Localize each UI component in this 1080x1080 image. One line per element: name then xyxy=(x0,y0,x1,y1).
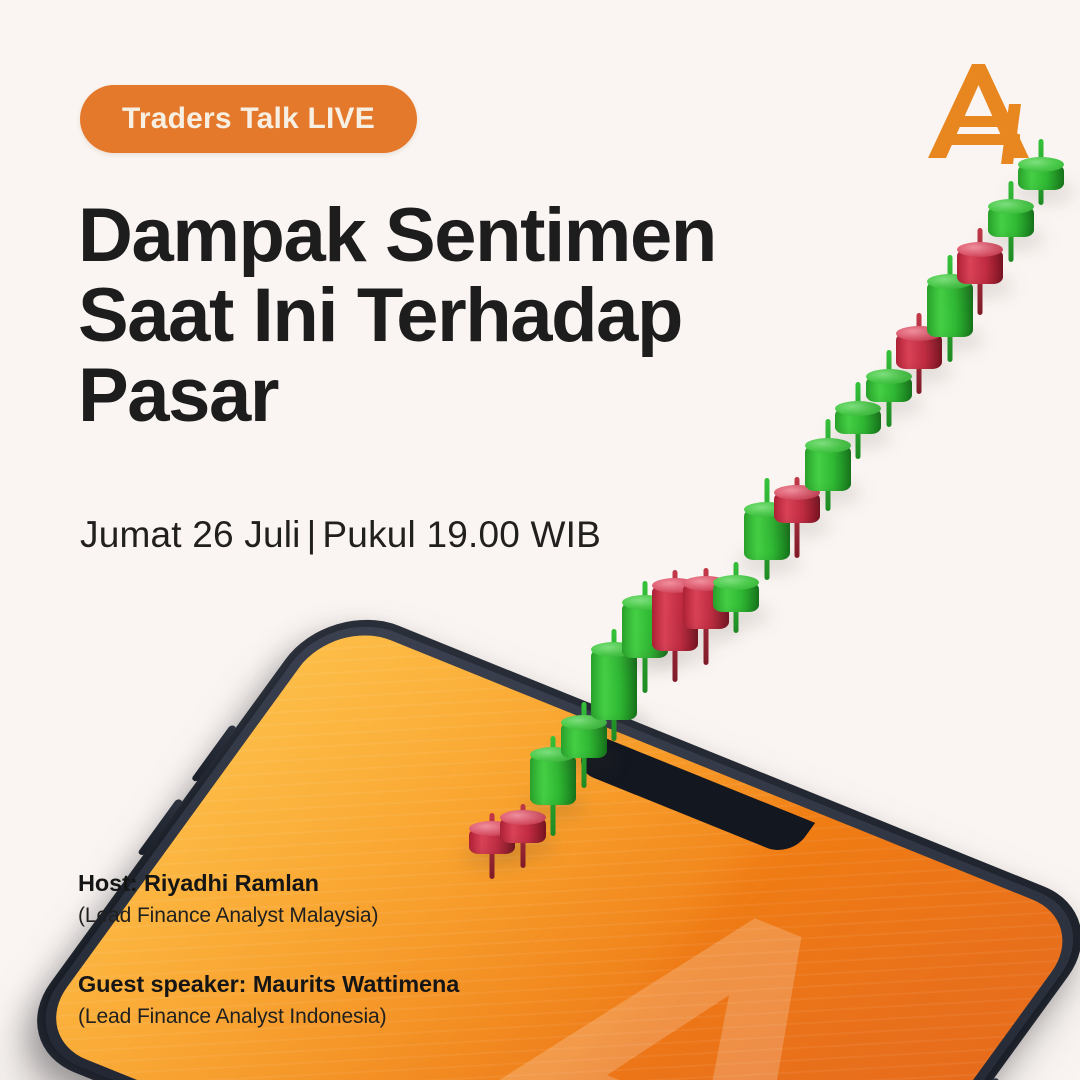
candlestick-19 xyxy=(1018,139,1064,205)
speaker-guest: Guest speaker: Maurits Wattimena (Lead F… xyxy=(78,969,598,1032)
speaker-list: Host: Riyadhi Ramlan (Lead Finance Analy… xyxy=(78,868,598,1032)
poster-canvas: Traders Talk LIVE Dampak Sentimen Saat I… xyxy=(0,0,1080,1080)
speaker-host: Host: Riyadhi Ramlan (Lead Finance Analy… xyxy=(78,868,598,931)
speaker-role: (Lead Finance Analyst Malaysia) xyxy=(78,900,598,932)
candlestick-top-cap xyxy=(1018,157,1064,172)
speaker-role: (Lead Finance Analyst Indonesia) xyxy=(78,1001,598,1033)
speaker-name: Guest speaker: Maurits Wattimena xyxy=(78,969,598,1001)
speaker-name: Host: Riyadhi Ramlan xyxy=(78,868,598,900)
